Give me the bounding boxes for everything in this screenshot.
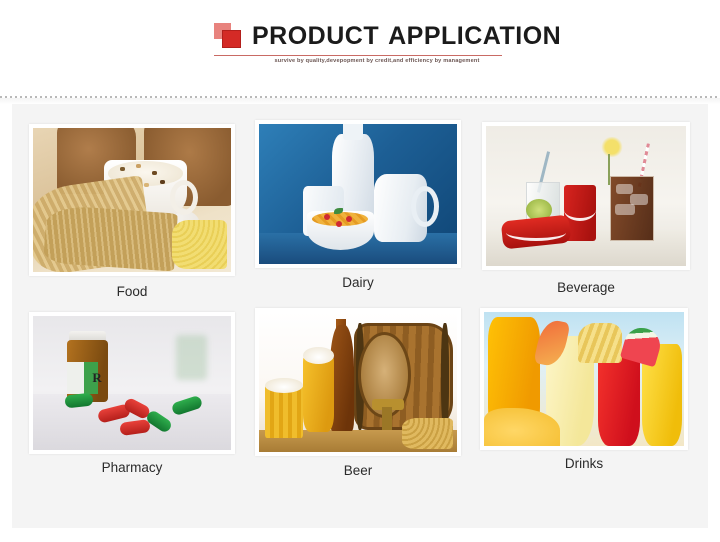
- card-food-frame: [29, 124, 235, 276]
- slide-header: PRODUCTAPPLICATION survive by quality,de…: [0, 0, 720, 96]
- food-photo: [33, 128, 231, 272]
- title-subtitle: survive by quality,devepopment by credit…: [252, 57, 502, 66]
- title-primary: PRODUCT: [252, 22, 379, 50]
- overlapping-red-squares-logo-icon: [214, 22, 244, 50]
- beer-photo: [259, 312, 457, 452]
- card-dairy-label: Dairy: [255, 275, 461, 290]
- logo-square-front: [222, 30, 241, 48]
- title-row: PRODUCTAPPLICATION: [214, 18, 506, 54]
- pharmacy-photo: R: [33, 316, 231, 450]
- card-food-label: Food: [29, 284, 235, 299]
- card-drinks-label: Drinks: [480, 456, 688, 471]
- beverage-photo: [486, 126, 686, 266]
- card-drinks[interactable]: Drinks: [480, 308, 688, 450]
- drinks-photo: [484, 312, 684, 446]
- card-dairy-frame: [255, 120, 461, 268]
- card-pharmacy-label: Pharmacy: [29, 460, 235, 475]
- dairy-photo: [259, 124, 457, 264]
- card-beer-label: Beer: [255, 463, 461, 478]
- title-block: PRODUCTAPPLICATION survive by quality,de…: [214, 18, 506, 54]
- card-pharmacy[interactable]: R Pharmacy: [29, 312, 235, 454]
- card-beer-frame: [255, 308, 461, 456]
- product-application-grid: Food: [12, 104, 708, 528]
- title-underline-rule: [214, 55, 502, 56]
- card-pharmacy-frame: R: [29, 312, 235, 454]
- card-food[interactable]: Food: [29, 124, 235, 276]
- card-dairy[interactable]: Dairy: [255, 120, 461, 268]
- card-beverage[interactable]: Beverage: [482, 122, 690, 270]
- card-drinks-frame: [480, 308, 688, 450]
- slide-product-application: PRODUCTAPPLICATION survive by quality,de…: [0, 0, 720, 542]
- card-beer[interactable]: Beer: [255, 308, 461, 456]
- content-panel: Food: [12, 104, 708, 528]
- title-secondary: APPLICATION: [388, 22, 561, 50]
- card-beverage-frame: [482, 122, 690, 270]
- page-title: PRODUCTAPPLICATION: [252, 21, 561, 51]
- card-beverage-label: Beverage: [482, 280, 690, 295]
